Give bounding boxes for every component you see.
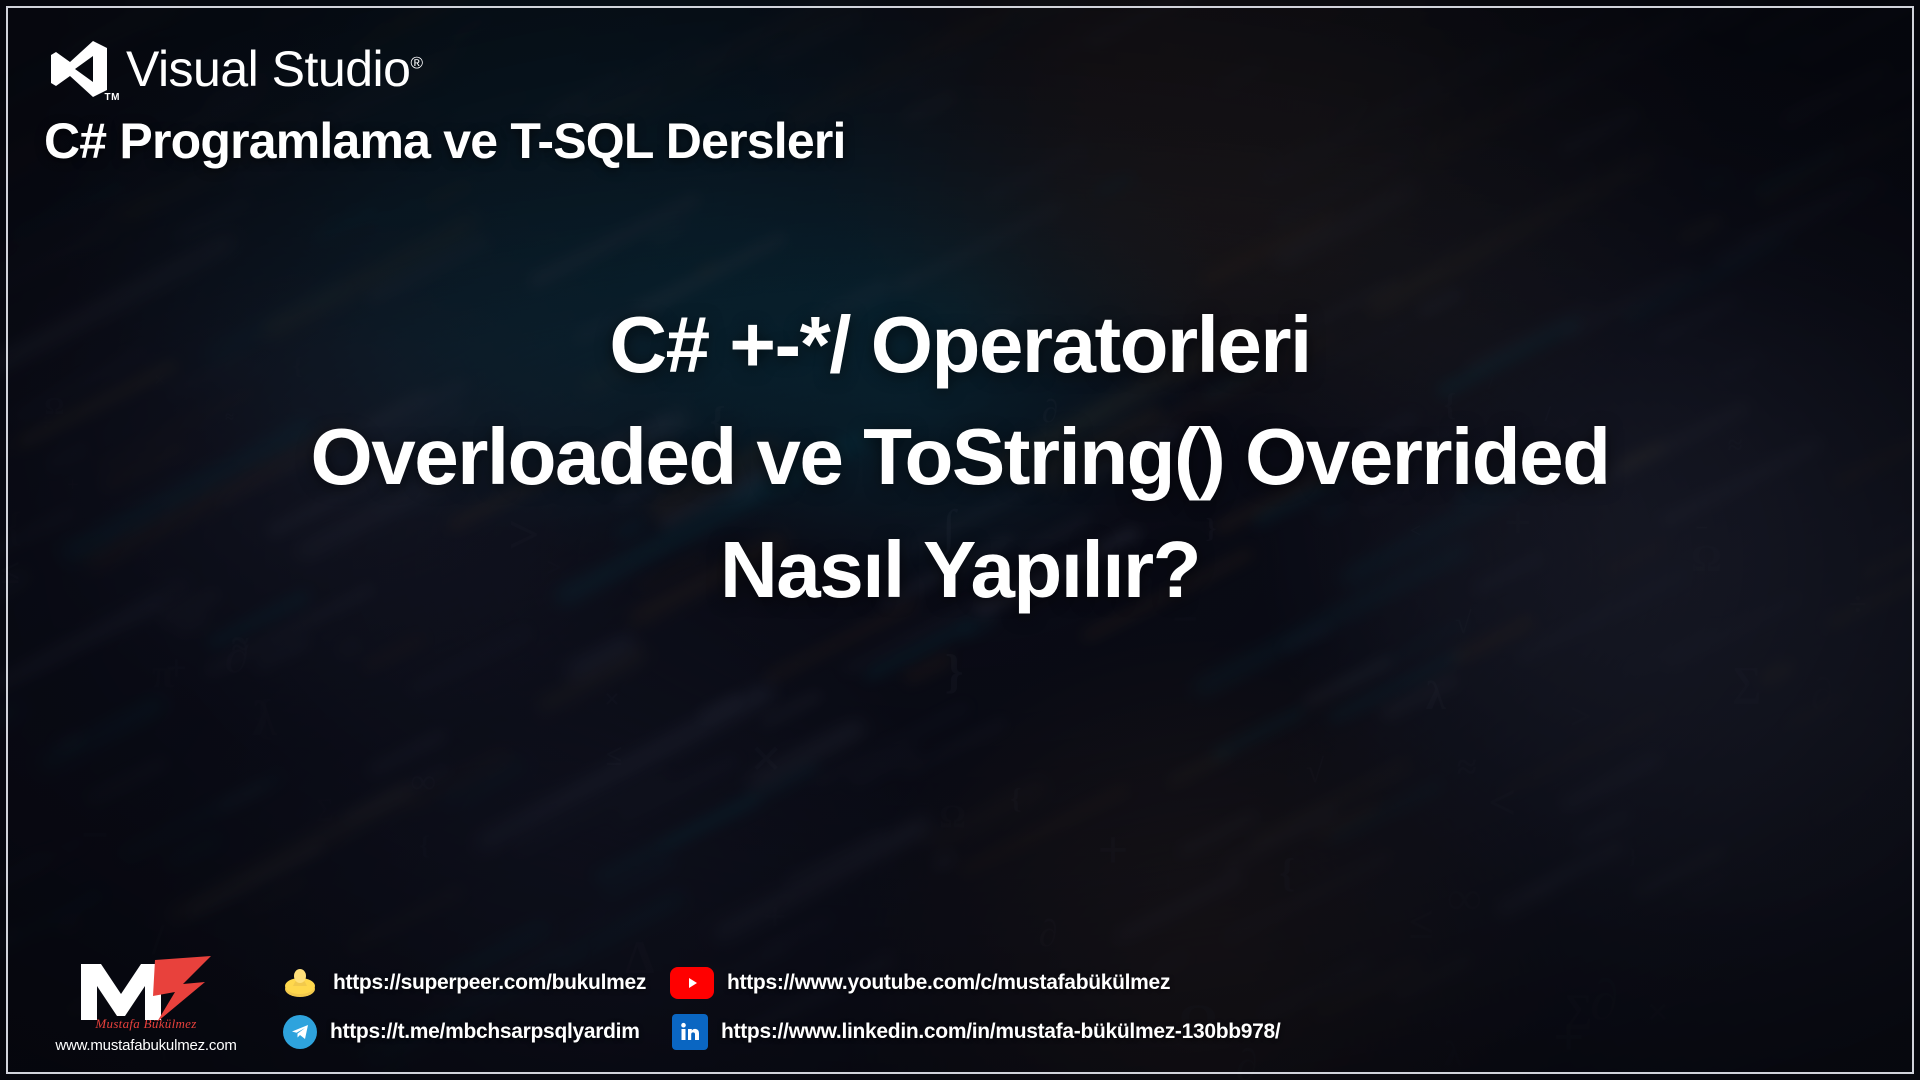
link-youtube-label: https://www.youtube.com/c/mustafabükülme…	[727, 971, 1170, 995]
youtube-icon	[670, 967, 714, 999]
link-youtube[interactable]: https://www.youtube.com/c/mustafabükülme…	[670, 967, 1170, 999]
author-brand: Mustafa Bükülmez www.mustafabukulmez.com	[46, 950, 246, 1054]
trademark-mark: TM	[105, 92, 120, 103]
title-line-1: C# +-*/ Operatorleri	[40, 300, 1880, 390]
youtube-thumbnail-slide: ×}∂∂λ≈∫≈{}π{+{∂×>{√/≤//{}√{/−∂{{+∞∑∑∑>}<…	[0, 0, 1920, 1080]
link-telegram[interactable]: https://t.me/mbchsarpsqlyardim	[280, 1015, 610, 1049]
social-links-row-2: https://t.me/mbchsarpsqlyardim https://w…	[280, 1014, 1280, 1050]
superpeer-icon	[280, 966, 320, 1000]
footer: Mustafa Bükülmez www.mustafabukulmez.com…	[0, 950, 1920, 1054]
mb-monogram-logo	[46, 950, 246, 1026]
visual-studio-wordmark: Visual Studio®	[126, 40, 422, 98]
link-linkedin[interactable]: https://www.linkedin.com/in/mustafa-bükü…	[670, 1014, 1280, 1050]
linkedin-icon	[672, 1014, 708, 1050]
link-superpeer-label: https://superpeer.com/bukulmez	[333, 971, 646, 995]
social-links: https://superpeer.com/bukulmez https://w…	[280, 966, 1280, 1054]
visual-studio-infinity-icon: TM	[48, 38, 110, 100]
title-line-2: Overloaded ve ToString() Overrided	[40, 412, 1880, 502]
title-line-3: Nasıl Yapılır?	[40, 525, 1880, 615]
visual-studio-logo: TM Visual Studio®	[48, 38, 422, 100]
video-title: C# +-*/ Operatorleri Overloaded ve ToStr…	[0, 300, 1920, 615]
channel-name: C# Programlama ve T-SQL Dersleri	[44, 112, 846, 170]
telegram-icon	[283, 1015, 317, 1049]
link-superpeer[interactable]: https://superpeer.com/bukulmez	[280, 966, 610, 1000]
registered-mark: ®	[410, 53, 422, 72]
link-linkedin-label: https://www.linkedin.com/in/mustafa-bükü…	[721, 1020, 1280, 1044]
social-links-row-1: https://superpeer.com/bukulmez https://w…	[280, 966, 1280, 1000]
visual-studio-text: Visual Studio	[126, 41, 410, 97]
link-telegram-label: https://t.me/mbchsarpsqlyardim	[330, 1020, 640, 1044]
author-website: www.mustafabukulmez.com	[46, 1037, 246, 1054]
